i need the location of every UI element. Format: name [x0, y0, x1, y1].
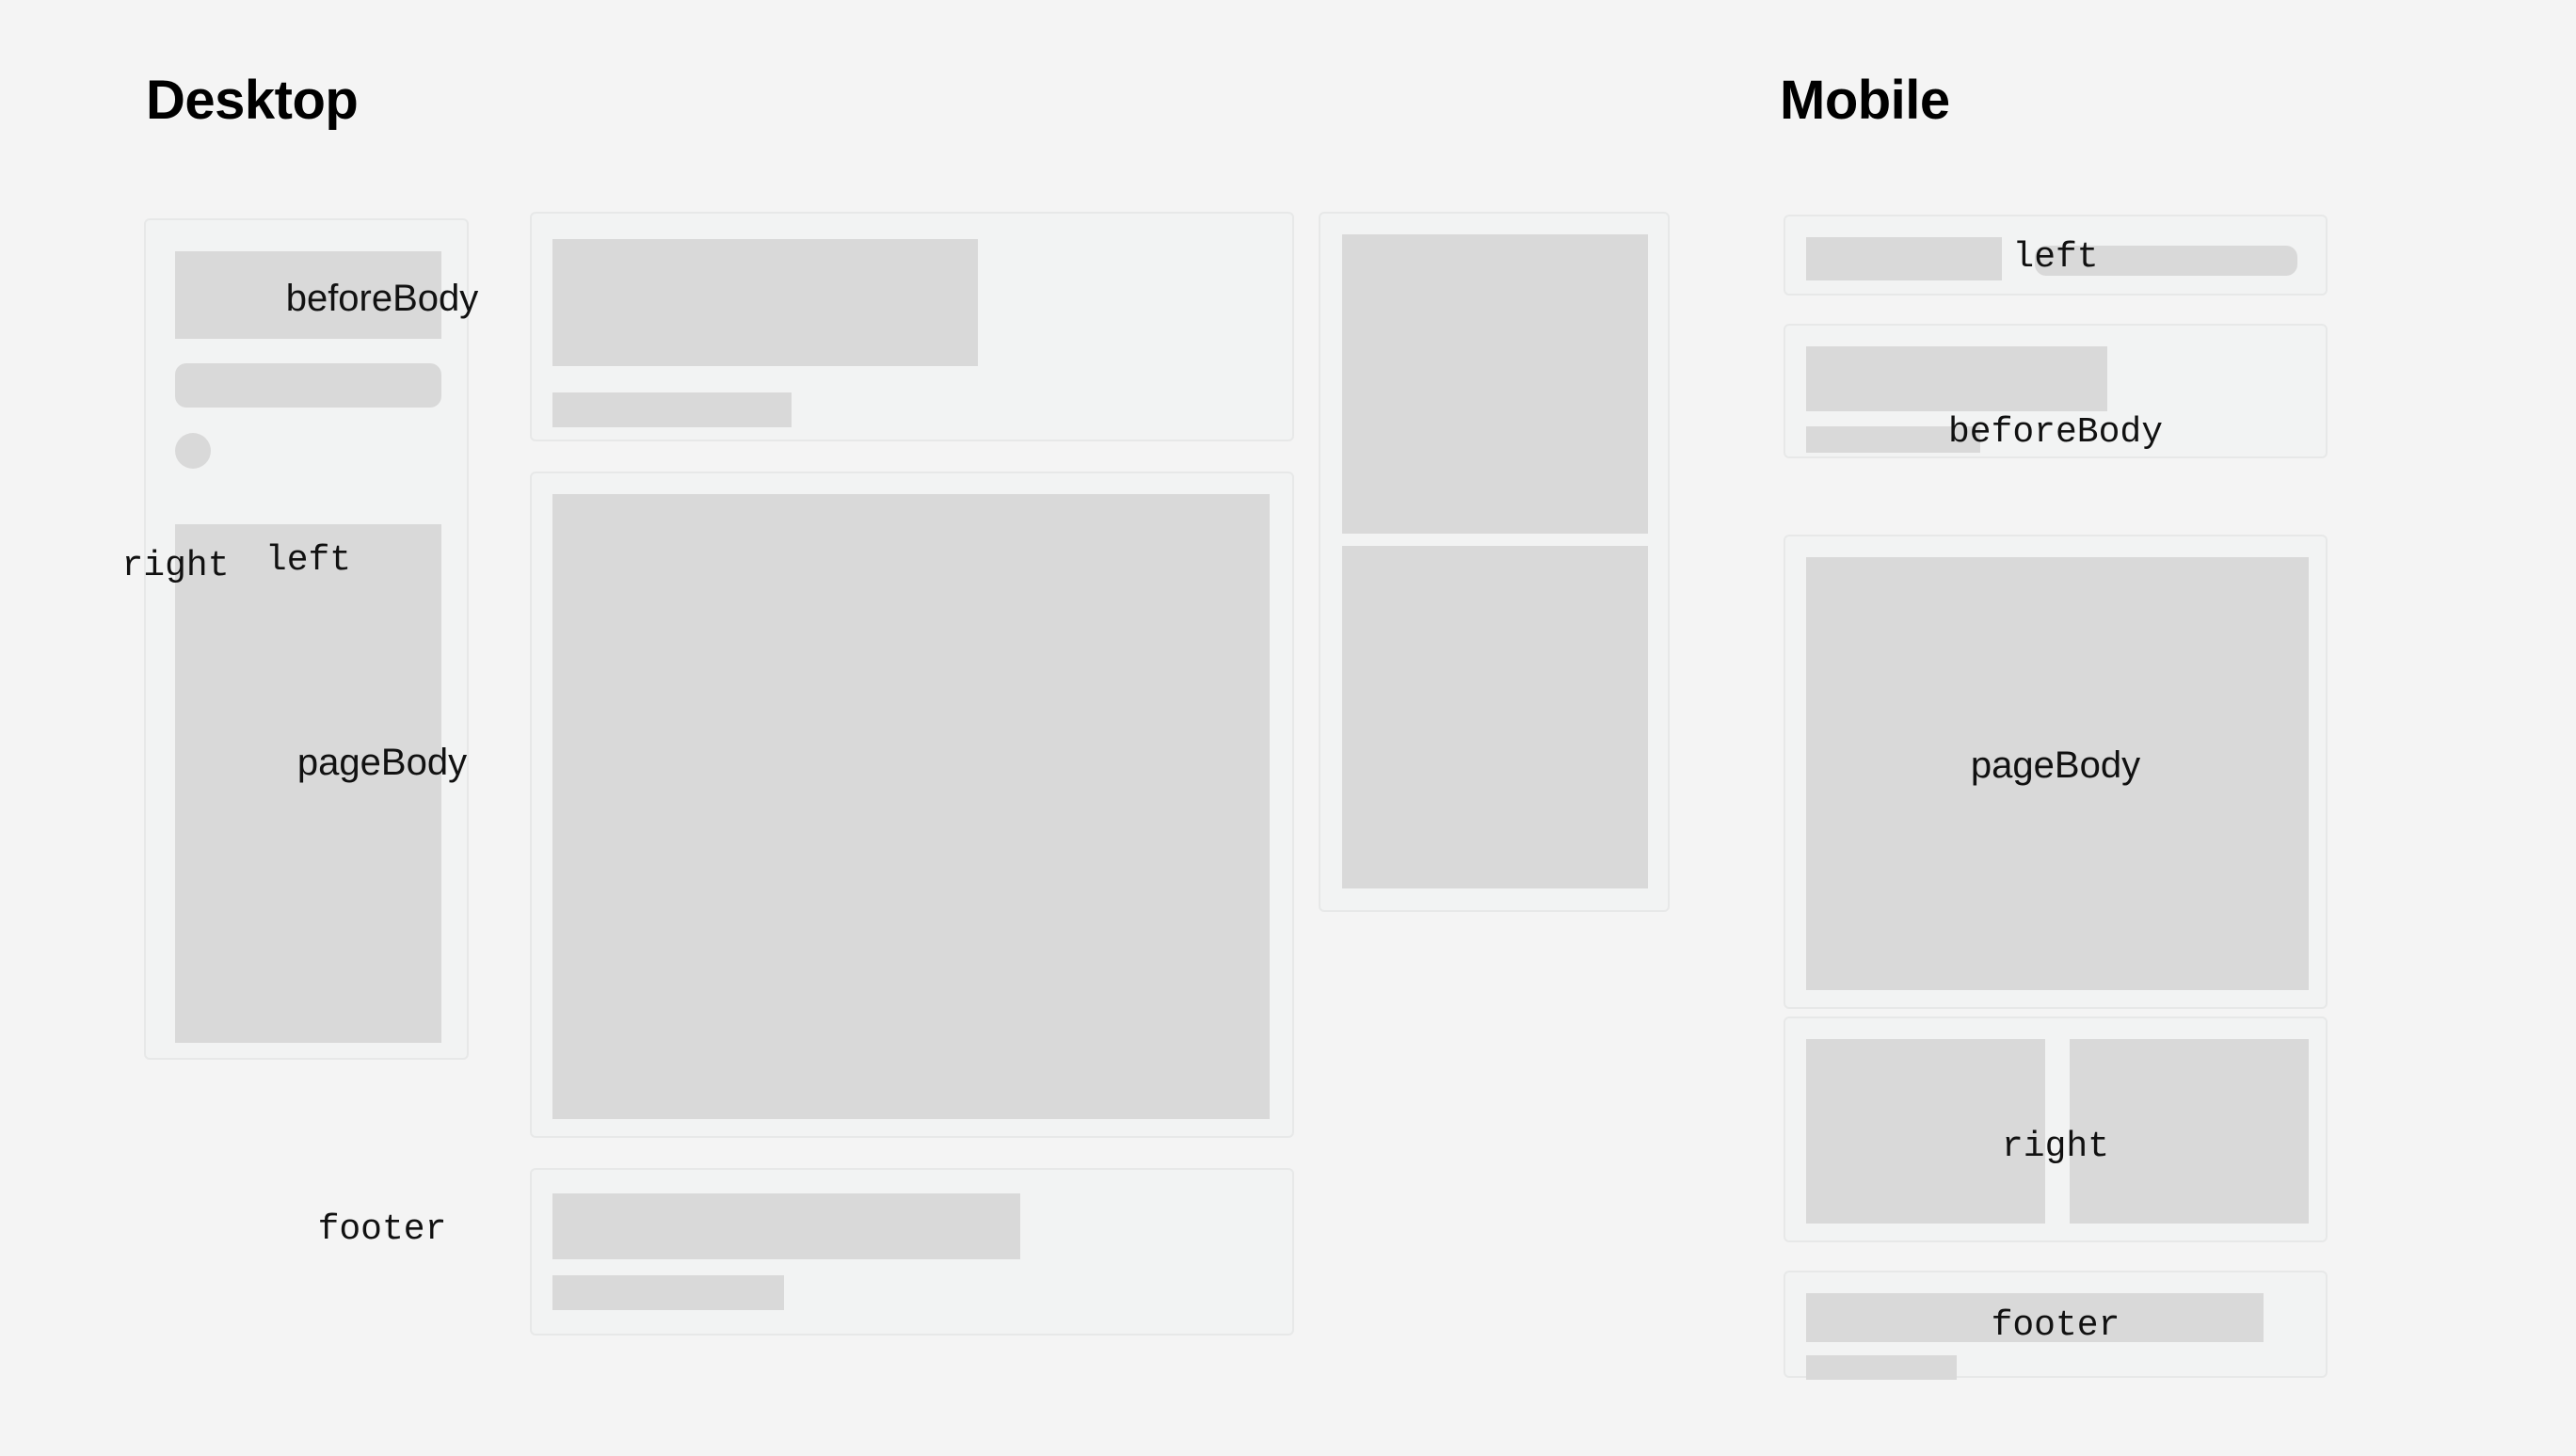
placeholder-block: [175, 251, 441, 339]
placeholder-avatar-circle: [2272, 248, 2296, 272]
placeholder-block: [1342, 546, 1648, 888]
mobile-beforebody-slot-panel: [1784, 324, 2328, 458]
placeholder-bar: [2035, 246, 2297, 276]
placeholder-block: [2070, 1039, 2309, 1224]
placeholder-avatar-circle: [175, 433, 211, 469]
desktop-pagebody-slot-panel: [530, 472, 1294, 1138]
placeholder-block-large: [1806, 557, 2309, 990]
placeholder-block: [1806, 1039, 2045, 1224]
desktop-footer-slot-panel: [530, 1168, 1294, 1336]
desktop-beforebody-slot-panel: [530, 212, 1294, 441]
desktop-right-slot-panel: [1319, 212, 1670, 912]
placeholder-block: [552, 1193, 1020, 1259]
placeholder-block: [1342, 234, 1648, 534]
mobile-left-slot-panel: [1784, 215, 2328, 296]
mobile-footer-slot-panel: [1784, 1271, 2328, 1378]
placeholder-block-tall: [175, 524, 441, 1043]
mobile-pagebody-slot-panel: [1784, 535, 2328, 1009]
placeholder-bar: [552, 1275, 784, 1310]
placeholder-bar: [552, 392, 792, 427]
mobile-right-slot-panel: [1784, 1016, 2328, 1242]
placeholder-block: [552, 239, 978, 366]
placeholder-block: [1806, 346, 2107, 411]
placeholder-block: [1806, 237, 2002, 280]
desktop-left-slot-panel: left: [144, 218, 469, 1060]
placeholder-bar: [1806, 1355, 1957, 1380]
placeholder-block: [1806, 1293, 2264, 1342]
placeholder-bar: [175, 363, 441, 408]
placeholder-bar: [1806, 426, 1980, 453]
mobile-column-title: Mobile: [1780, 73, 1950, 128]
desktop-column-title: Desktop: [146, 73, 358, 128]
placeholder-block-large: [552, 494, 1270, 1119]
